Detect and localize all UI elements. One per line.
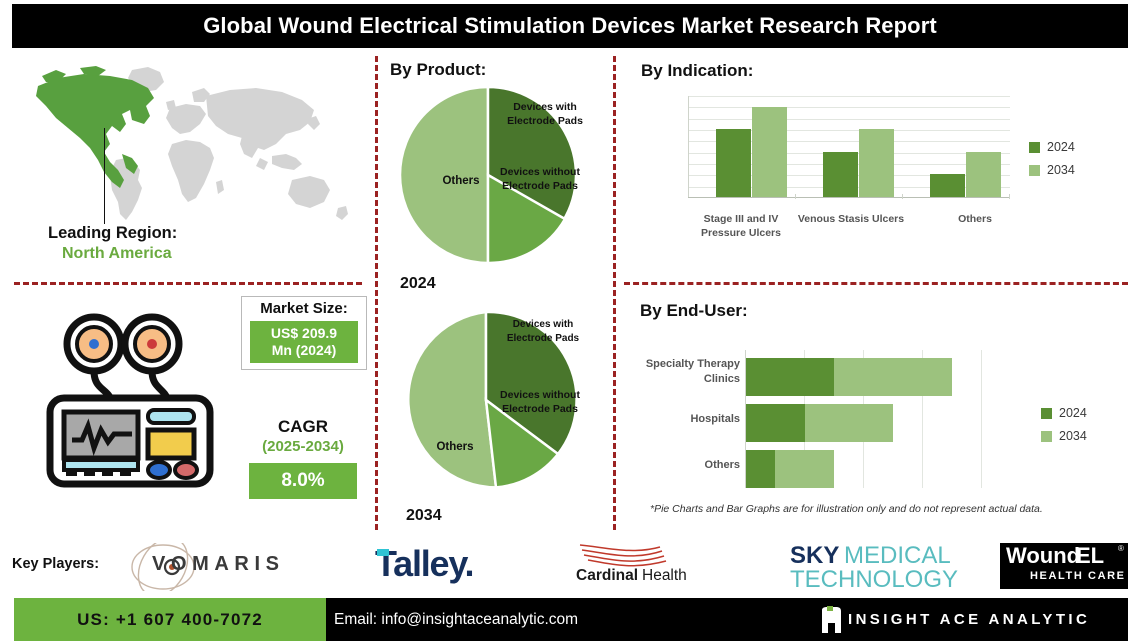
enduser-category-others: Others [612, 458, 740, 473]
pie-label-others-2034: Others [418, 440, 492, 456]
market-size-title: Market Size: [242, 300, 366, 317]
page-title: Global Wound Electrical Stimulation Devi… [12, 4, 1128, 48]
pie-year-2034: 2034 [406, 507, 442, 525]
enduser-legend: 2024 2034 [1041, 406, 1087, 452]
footer-brand: INSIGHT ACE ANALYTIC [848, 598, 1090, 641]
hbar-others-2034 [775, 450, 834, 488]
cagr-title: CAGR [241, 417, 365, 437]
logo-wound-word: Wound [1006, 543, 1080, 569]
pie-label-with-pads-2034: Devices with Electrode Pads [498, 318, 588, 345]
legend-swatch-2024 [1029, 142, 1040, 153]
talley-accent-mark [377, 549, 389, 556]
header-bar: Global Wound Electrical Stimulation Devi… [12, 4, 1128, 48]
hbar-hospitals-2024 [746, 404, 805, 442]
legend-item-2024: 2024 [1029, 140, 1075, 154]
legend-item-2034: 2034 [1029, 163, 1075, 177]
legend-item-2024-enduser: 2024 [1041, 406, 1087, 420]
market-size-box: Market Size: US$ 209.9 Mn (2024) [241, 296, 367, 370]
registered-trademark-icon: ® [1118, 544, 1124, 553]
leading-region-label: Leading Region: [48, 224, 177, 243]
logo-woundel[interactable]: Wound EL ® HEALTH CARE [1000, 543, 1128, 589]
bar-stage3-4-2034 [752, 107, 787, 197]
hbar-specialty-2024 [746, 358, 834, 396]
pie-year-2024: 2024 [400, 275, 436, 293]
market-size-value: US$ 209.9 Mn (2024) [250, 321, 358, 363]
logo-el-word: EL [1076, 543, 1104, 569]
legend-swatch-2034-enduser [1041, 431, 1052, 442]
enduser-plot-area [745, 350, 1035, 488]
market-size-amount: US$ 209.9 [271, 325, 337, 343]
indication-legend: 2024 2034 [1029, 140, 1075, 186]
legend-label-2034: 2034 [1047, 163, 1075, 177]
by-product-title: By Product: [390, 60, 486, 80]
enduser-category-hospitals: Hospitals [612, 412, 740, 427]
by-indication-title: By Indication: [641, 61, 753, 81]
market-size-unit-year: Mn (2024) [272, 342, 337, 360]
indication-category-stage3-4: Stage III and IV Pressure Ulcers [684, 212, 798, 240]
logo-technology-word: TECHNOLOGY [790, 566, 958, 594]
logo-cardinal-bold: Cardinal [576, 567, 638, 585]
legend-swatch-2024-enduser [1041, 408, 1052, 419]
bar-venous-2034 [859, 129, 894, 197]
legend-label-2024: 2024 [1047, 140, 1075, 154]
cagr-range: (2025-2034) [241, 438, 365, 455]
indication-category-others: Others [920, 212, 1030, 226]
stimulation-device-icon [36, 302, 226, 502]
world-map [14, 62, 364, 234]
cagr-value: 8.0% [249, 463, 357, 499]
key-players-label: Key Players: [12, 556, 99, 572]
bar-others-2034 [966, 152, 1001, 197]
by-end-user-title: By End-User: [640, 301, 748, 321]
pie-slice-others-2034 [408, 312, 496, 487]
legend-item-2034-enduser: 2034 [1041, 429, 1087, 443]
logo-cardinal-light: Health [642, 567, 687, 585]
footer-email[interactable]: Email: info@insightaceanalytic.com [334, 598, 578, 641]
pie-label-without-pads-2024: Devices without Electrode Pads [500, 165, 580, 193]
bar-venous-2024 [823, 152, 858, 197]
logo-woundel-tagline: HEALTH CARE [1030, 570, 1126, 582]
pie-label-others-2024: Others [424, 174, 498, 190]
footer-phone[interactable]: US: +1 607 400-7072 [14, 598, 326, 641]
pie-label-with-pads-2024: Devices with Electrode Pads [500, 100, 590, 128]
legend-label-2024-enduser: 2024 [1059, 406, 1087, 420]
logo-vomaris[interactable]: VOMARIS [128, 543, 313, 591]
divider-horizontal-right [624, 282, 1128, 285]
logo-sky-medical-technology[interactable]: SKY MEDICAL TECHNOLOGY [790, 542, 970, 592]
hbar-specialty-2034 [834, 358, 952, 396]
indication-plot-area [688, 96, 1010, 198]
legend-label-2034-enduser: 2034 [1059, 429, 1087, 443]
leading-region-value: North America [62, 245, 172, 263]
bar-stage3-4-2024 [716, 129, 751, 197]
pie-label-without-pads-2034: Devices without Electrode Pads [500, 388, 580, 416]
logo-vomaris-text: VOMARIS [152, 553, 285, 576]
world-map-svg [14, 62, 364, 234]
insight-ace-logo-icon [818, 606, 844, 634]
bar-others-2024 [930, 174, 965, 197]
divider-horizontal-left [14, 282, 362, 285]
indication-category-venous: Venous Stasis Ulcers [796, 212, 906, 226]
legend-swatch-2034 [1029, 165, 1040, 176]
logo-cardinal-health[interactable]: Cardinal Health [570, 541, 730, 589]
hbar-hospitals-2034 [805, 404, 893, 442]
logo-talley[interactable]: Talley. [375, 545, 515, 589]
hbar-others-2024 [746, 450, 775, 488]
charts-disclaimer: *Pie Charts and Bar Graphs are for illus… [650, 503, 1043, 515]
enduser-category-specialty: Specialty Therapy Clinics [612, 357, 740, 387]
logo-talley-text: Talley. [375, 543, 473, 585]
divider-vertical-left [375, 56, 378, 530]
map-leader-line [104, 128, 105, 224]
infographic-page: Global Wound Electrical Stimulation Devi… [0, 0, 1140, 641]
